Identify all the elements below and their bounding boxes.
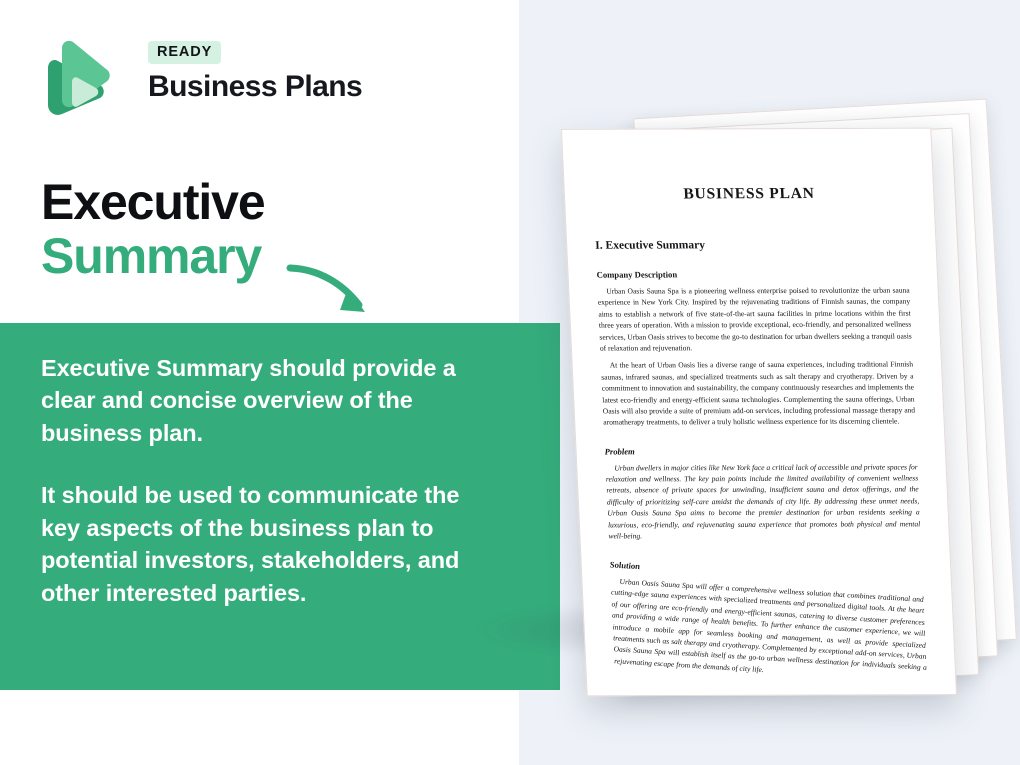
play-triangle-logo-icon — [40, 38, 112, 116]
brand-lockup-text: READY Business Plans — [148, 41, 378, 103]
document-subsection-heading-problem: Problem — [604, 445, 917, 456]
document-page-content: BUSINESS PLAN I. Executive Summary Compa… — [562, 129, 956, 696]
page-title: Executive Summary — [41, 175, 481, 283]
page-title-line-1: Executive — [41, 175, 481, 229]
panel-paragraph-1: Executive Summary should provide a clear… — [41, 352, 489, 449]
document-paragraph-company-2: At the heart of Urban Oasis lies a diver… — [600, 359, 915, 428]
ready-badge: READY — [148, 41, 221, 64]
brand-logo: READY Business Plans — [40, 38, 340, 116]
document-paragraph-solution-1: Urban Oasis Sauna Spa will offer a compr… — [610, 576, 927, 686]
document-paragraph-problem-1: Urban dwellers in major cities like New … — [605, 461, 921, 542]
document-title: BUSINESS PLAN — [593, 185, 906, 204]
document-section-heading: I. Executive Summary — [595, 239, 908, 252]
panel-description: Executive Summary should provide a clear… — [41, 352, 489, 609]
panel-paragraph-2: It should be used to communicate the key… — [41, 479, 489, 609]
brand-name-text: Business Plans — [148, 70, 378, 104]
document-subsection-heading-company: Company Description — [596, 269, 909, 280]
document-paragraph-company-1: Urban Oasis Sauna Spa is a pioneering we… — [597, 285, 912, 354]
curved-arrow-icon — [285, 258, 385, 328]
page-title-line-2: Summary — [41, 229, 481, 283]
document-page-front: BUSINESS PLAN I. Executive Summary Compa… — [561, 128, 957, 697]
slide-canvas: READY Business Plans Executive Summary E… — [0, 0, 1020, 765]
document-stack: BUSINESS PLAN I. Executive Summary Compa… — [470, 60, 1020, 700]
